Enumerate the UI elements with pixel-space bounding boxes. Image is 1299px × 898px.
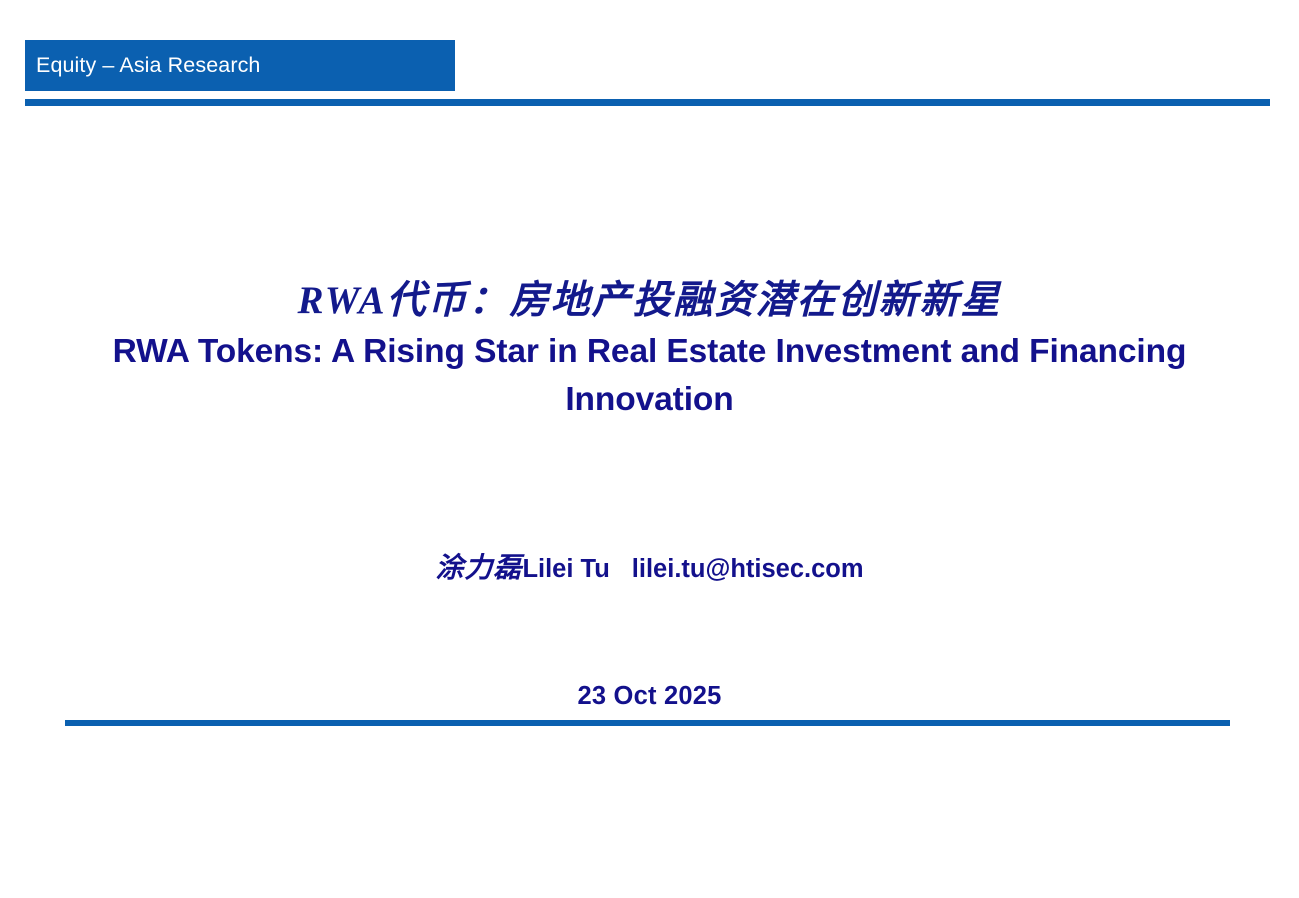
author-name-chinese: 涂力磊 <box>435 553 522 584</box>
date-line: 23 Oct 2025 <box>0 682 1299 711</box>
author-name-english: Lilei Tu <box>522 555 609 583</box>
header-banner: Equity – Asia Research <box>25 40 455 91</box>
author-line: 涂力磊Lilei Tulilei.tu@htisec.com <box>0 546 1299 586</box>
title-slide: Equity – Asia Research RWA代币：房地产投融资潜在创新新… <box>0 0 1299 898</box>
divider-bottom <box>65 720 1230 726</box>
title-block: RWA代币：房地产投融资潜在创新新星 RWA Tokens: A Rising … <box>0 278 1299 423</box>
page-title-english: RWA Tokens: A Rising Star in Real Estate… <box>0 328 1299 423</box>
divider-top <box>25 99 1270 106</box>
page-title-chinese: RWA代币：房地产投融资潜在创新新星 <box>0 278 1299 324</box>
publication-date: 23 Oct 2025 <box>578 682 722 710</box>
header-banner-label: Equity – Asia Research <box>36 55 261 77</box>
author-email: lilei.tu@htisec.com <box>632 555 864 583</box>
